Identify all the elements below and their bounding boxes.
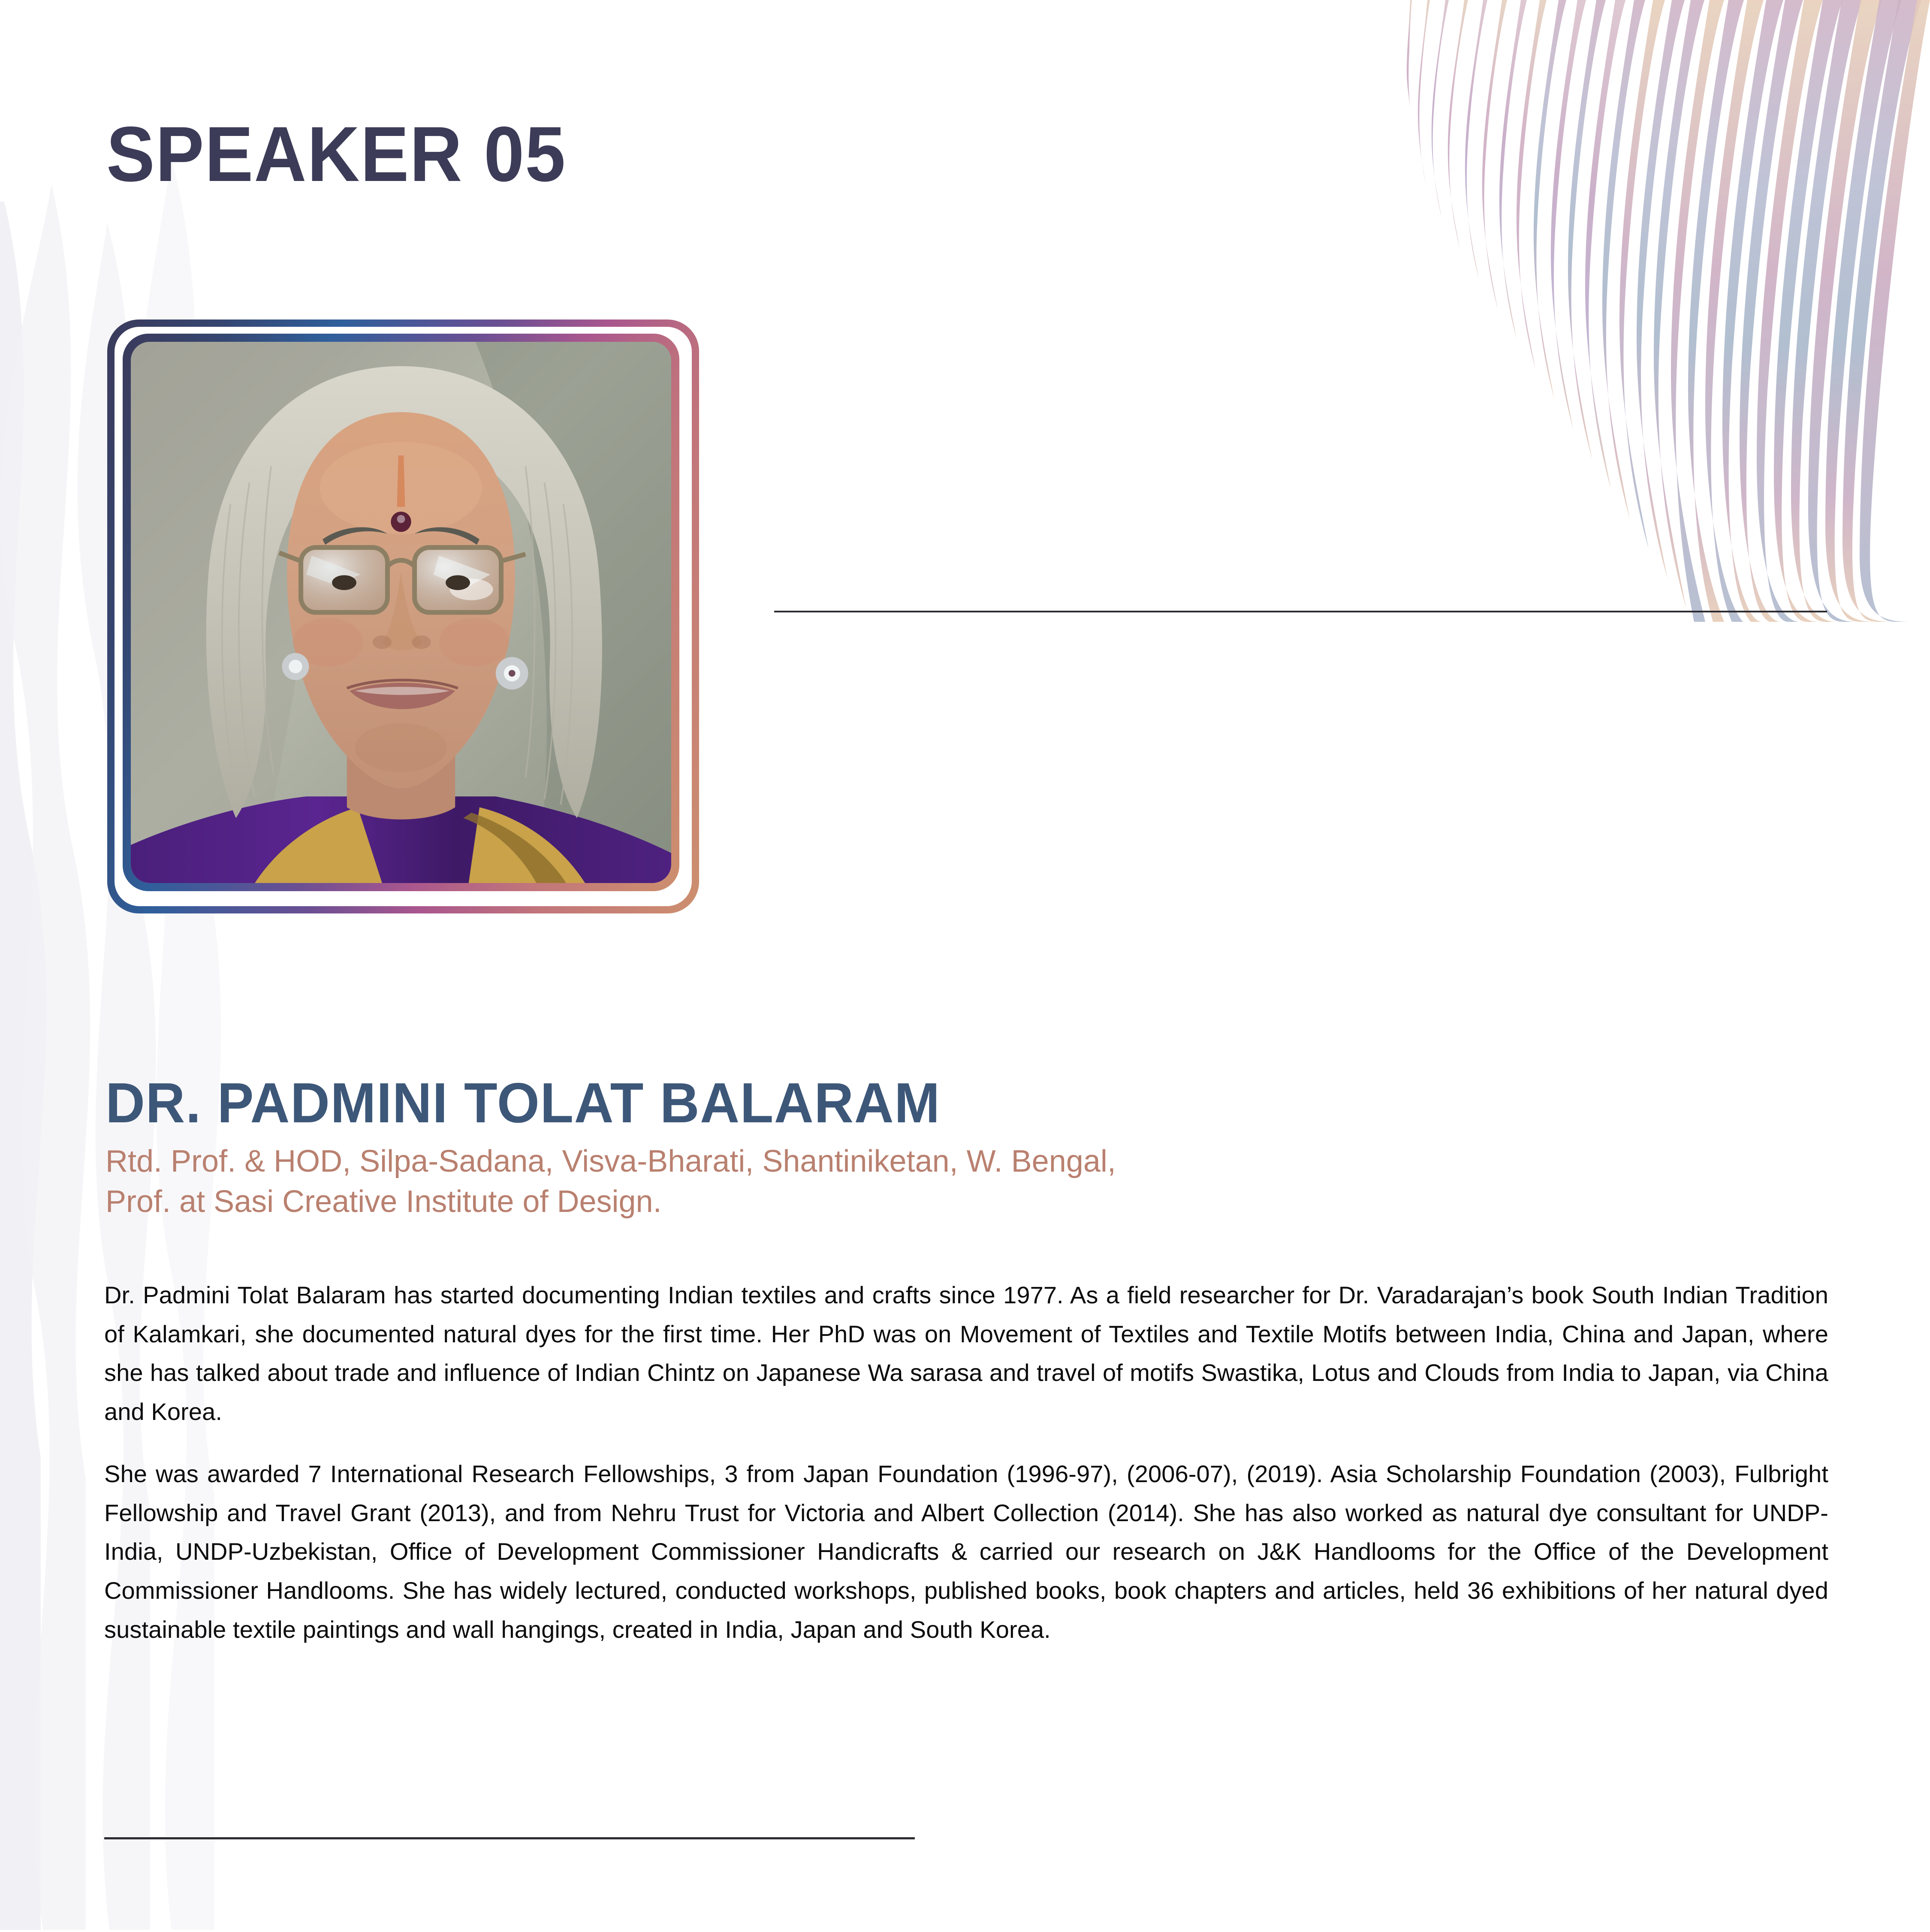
speaker-name: DR. PADMINI TOLAT BALARAM xyxy=(106,1075,941,1131)
speaker-bio: Dr. Padmini Tolat Balaram has started do… xyxy=(104,1276,1828,1649)
speaker-role: Rtd. Prof. & HOD, Silpa-Sadana, Visva-Bh… xyxy=(106,1142,1521,1222)
speaker-role-line-2: Prof. at Sasi Creative Institute of Desi… xyxy=(106,1182,1521,1222)
top-divider-rule xyxy=(774,611,1827,612)
bio-paragraph: She was awarded 7 International Research… xyxy=(104,1455,1828,1649)
top-right-wave-decoration xyxy=(1394,0,1930,622)
page-title: SPEAKER 05 xyxy=(106,115,566,193)
bottom-divider-rule xyxy=(104,1837,915,1839)
bio-paragraph: Dr. Padmini Tolat Balaram has started do… xyxy=(104,1276,1828,1432)
speaker-portrait xyxy=(131,342,671,883)
photo-frame-inner-border xyxy=(123,334,679,891)
speaker-photo-frame xyxy=(107,319,699,913)
speaker-role-line-1: Rtd. Prof. & HOD, Silpa-Sadana, Visva-Bh… xyxy=(106,1142,1521,1182)
